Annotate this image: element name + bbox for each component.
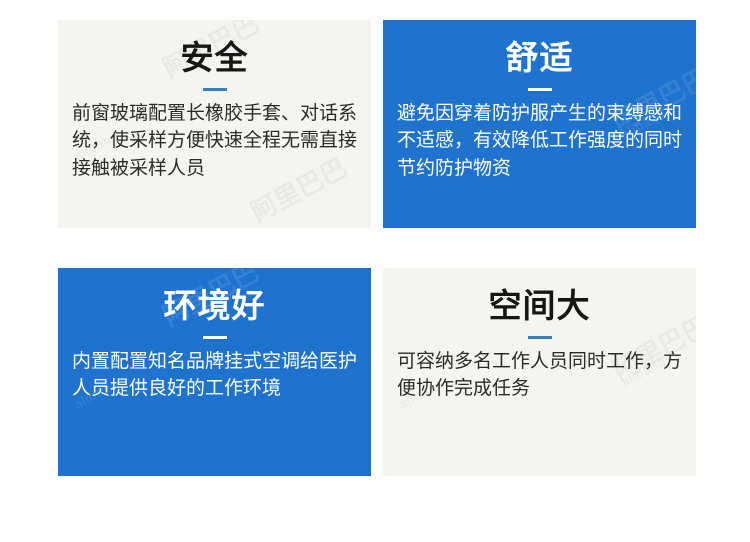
feature-card-title: 空间大 bbox=[489, 288, 591, 325]
feature-card-body: 避免因穿着防护服产生的束缚感和不适感，有效降低工作强度的同时节约防护物资 bbox=[383, 100, 696, 183]
feature-card-good-environment: 阿里巴巴 alibaba 环境好 内置配置知名品牌挂式空调给医护人员提供良好的工… bbox=[58, 268, 371, 476]
feature-card-body: 可容纳多名工作人员同时工作，方便协作完成任务 bbox=[383, 348, 696, 403]
feature-card-divider bbox=[203, 336, 227, 339]
feature-card-body: 内置配置知名品牌挂式空调给医护人员提供良好的工作环境 bbox=[58, 348, 371, 403]
feature-card-content: 环境好 内置配置知名品牌挂式空调给医护人员提供良好的工作环境 bbox=[58, 268, 371, 476]
feature-card-title: 安全 bbox=[181, 40, 249, 77]
feature-card-divider bbox=[203, 88, 227, 91]
feature-card-large-space: alibaba 阿里巴巴 alibaba 空间大 可容纳多名工作人员同时工作，方… bbox=[383, 268, 696, 476]
feature-card-content: 安全 前窗玻璃配置长橡胶手套、对话系统，使采样方便快速全程无需直接接触被采样人员 bbox=[58, 20, 371, 228]
feature-card-content: 空间大 可容纳多名工作人员同时工作，方便协作完成任务 bbox=[383, 268, 696, 476]
feature-card-title: 舒适 bbox=[506, 40, 574, 77]
feature-card-divider bbox=[528, 336, 552, 339]
feature-card-body: 前窗玻璃配置长橡胶手套、对话系统，使采样方便快速全程无需直接接触被采样人员 bbox=[58, 100, 371, 183]
feature-card-divider bbox=[528, 88, 552, 91]
feature-card-comfort: 阿里巴巴 alibaba 舒适 避免因穿着防护服产生的束缚感和不适感，有效降低工… bbox=[383, 20, 696, 228]
feature-card-title: 环境好 bbox=[164, 288, 266, 325]
feature-card-safety: 阿里巴巴 alibaba 阿里巴巴 安全 前窗玻璃配置长橡胶手套、对话系统，使采… bbox=[58, 20, 371, 228]
feature-card-content: 舒适 避免因穿着防护服产生的束缚感和不适感，有效降低工作强度的同时节约防护物资 bbox=[383, 20, 696, 228]
feature-card-grid: 阿里巴巴 alibaba 阿里巴巴 安全 前窗玻璃配置长橡胶手套、对话系统，使采… bbox=[0, 0, 750, 542]
